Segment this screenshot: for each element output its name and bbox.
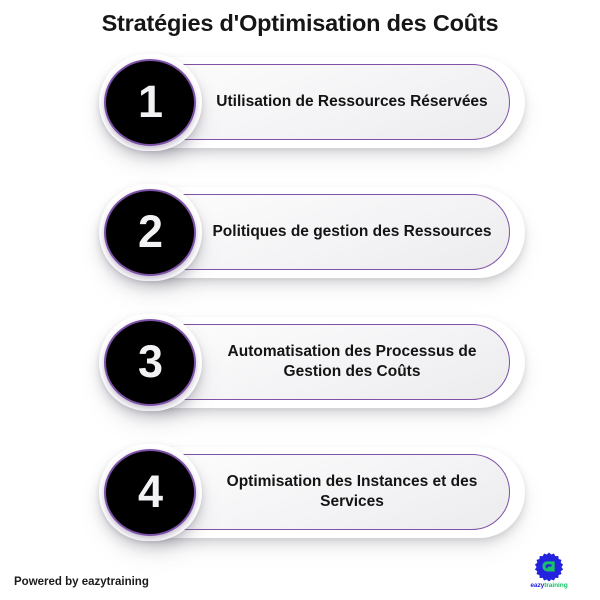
step-badge: 3 [104, 319, 196, 406]
step-label: Utilisation de Ressources Réservées [202, 92, 502, 112]
list-item[interactable]: Automatisation des Processus de Gestion … [0, 314, 600, 411]
step-badge: 1 [104, 59, 196, 146]
step-label: Automatisation des Processus de Gestion … [202, 342, 502, 383]
footer-credit: Powered by eazytraining [14, 576, 149, 588]
step-number: 1 [138, 79, 162, 124]
step-number: 2 [138, 209, 162, 254]
list-item[interactable]: Optimisation des Instances et des Servic… [0, 444, 600, 541]
brand-logo: eazytraining [512, 544, 586, 590]
step-badge: 2 [104, 189, 196, 276]
step-badge: 4 [104, 449, 196, 536]
brand-word-part1: eazy [530, 582, 544, 589]
page-title: Stratégies d'Optimisation des Coûts [0, 10, 600, 37]
steps-list: Utilisation de Ressources Réservées 1 Po… [0, 54, 600, 574]
infographic-canvas: Stratégies d'Optimisation des Coûts Util… [0, 0, 600, 600]
list-item[interactable]: Utilisation de Ressources Réservées 1 [0, 54, 600, 151]
step-number: 4 [138, 469, 162, 514]
list-item[interactable]: Politiques de gestion des Ressources 2 [0, 184, 600, 281]
step-label: Politiques de gestion des Ressources [202, 222, 502, 242]
brand-word-part2: training [544, 582, 567, 589]
brand-wordmark: eazytraining [530, 583, 567, 590]
step-label: Optimisation des Instances et des Servic… [202, 472, 502, 513]
step-number: 3 [138, 339, 162, 384]
eazytraining-gear-e-icon [534, 552, 564, 582]
